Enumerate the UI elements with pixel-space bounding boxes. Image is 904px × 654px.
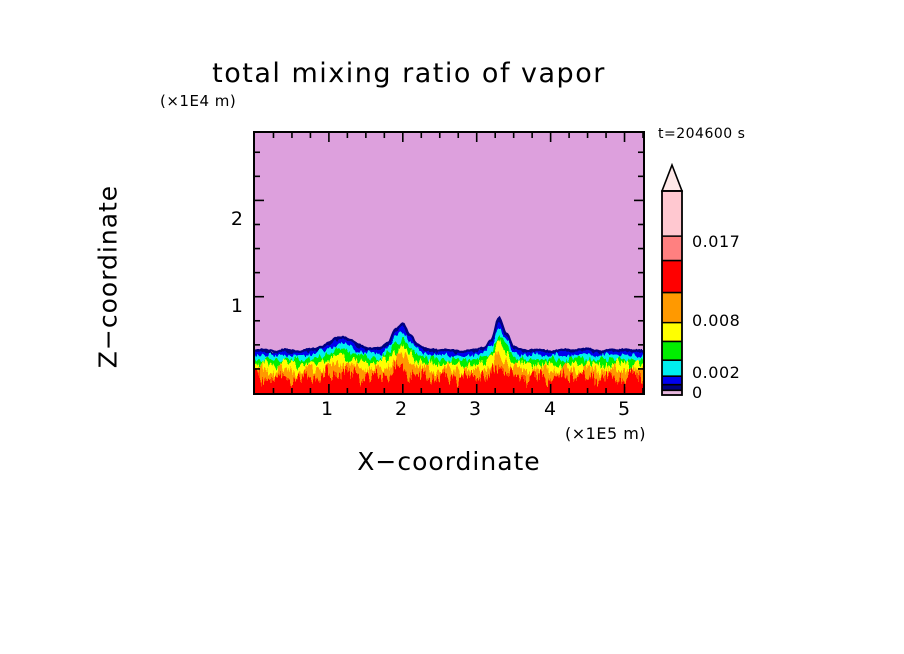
contour-plot-area[interactable] [253, 131, 645, 395]
y-axis-title: Z−coordinate [94, 147, 123, 407]
y-tick-label-2: 2 [213, 208, 243, 230]
y-axis-unit-label: (×1E4 m) [160, 92, 236, 110]
y-tick-label-1: 1 [213, 295, 243, 317]
colorbar-tick-label-0008: 0.008 [692, 311, 740, 330]
x-tick-label-5: 5 [609, 398, 639, 420]
x-axis-unit-label: (×1E5 m) [565, 424, 646, 443]
colorbar-tick-label-0017: 0.017 [692, 232, 740, 251]
x-tick-label-3: 3 [460, 398, 490, 420]
page-title: total mixing ratio of vapor [0, 58, 861, 89]
colorbar-tick-label-0002: 0.002 [692, 363, 740, 382]
x-tick-label-1: 1 [312, 398, 342, 420]
colorbar-tick-label-0: 0 [692, 383, 703, 402]
x-axis-title: X−coordinate [253, 447, 645, 476]
colorbar[interactable] [658, 163, 692, 398]
x-tick-label-2: 2 [386, 398, 416, 420]
contour-field [255, 133, 643, 393]
colorbar-swatches [658, 163, 692, 398]
timestamp-annotation: t=204600 s [658, 126, 745, 142]
x-tick-label-4: 4 [535, 398, 565, 420]
